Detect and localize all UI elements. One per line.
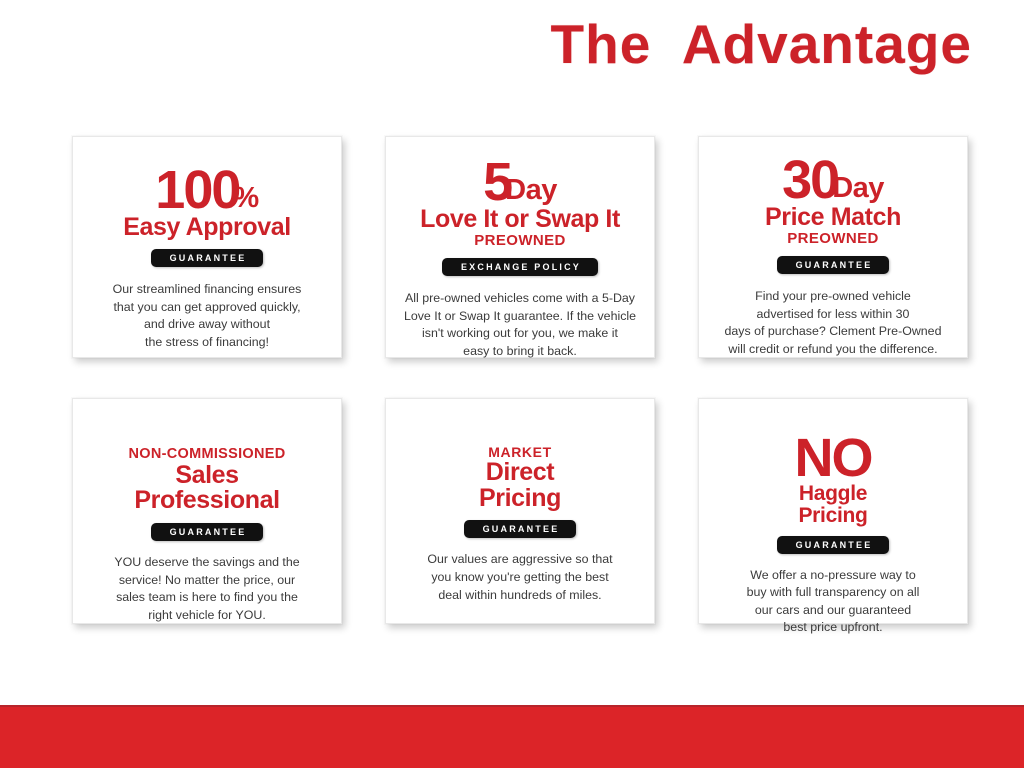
exchange-policy-badge: EXCHANGE POLICY [442,258,598,276]
headline-primary-2: Pricing [798,505,867,527]
page-title: The Advantage [551,16,972,74]
card-headline: 30 Day Price Match PREOWNED [765,157,901,247]
card-market-direct-pricing[interactable]: MARKET Direct Pricing GUARANTEE Our valu… [385,398,655,624]
card-body-text: YOU deserve the savings and the service!… [114,554,299,624]
guarantee-badge: GUARANTEE [151,523,264,541]
card-headline: NON-COMMISSIONED Sales Professional [128,447,285,514]
hero-big-text: 100 [155,167,239,215]
headline-secondary: PREOWNED [787,230,879,247]
advantage-card-grid: 100 % Easy Approval GUARANTEE Our stream… [72,136,970,624]
card-price-match[interactable]: 30 Day Price Match PREOWNED GUARANTEE Fi… [698,136,968,358]
hero-row: NO [795,435,872,483]
card-body-text: Our streamlined financing ensures that y… [113,281,302,351]
headline-primary: Sales [175,463,238,489]
card-love-it-or-swap-it[interactable]: 5 Day Love It or Swap It PREOWNED EXCHAN… [385,136,655,358]
guarantee-badge: GUARANTEE [777,256,890,274]
card-body-text: We offer a no-pressure way to buy with f… [747,567,920,637]
footer-red-band [0,705,1024,768]
card-headline: NO Haggle Pricing [795,435,872,527]
guarantee-badge: GUARANTEE [777,536,890,554]
hero-row: 30 Day [782,157,884,205]
hero-big-text: NO [795,435,872,483]
card-sales-professional[interactable]: NON-COMMISSIONED Sales Professional GUAR… [72,398,342,624]
card-body-text: Find your pre-owned vehicle advertised f… [725,288,942,358]
guarantee-badge: GUARANTEE [464,520,577,538]
card-body-text: Our values are aggressive so that you kn… [427,551,612,604]
headline-primary: Direct [486,460,554,486]
hero-row: 5 Day [483,159,557,207]
card-headline: 100 % Easy Approval [123,167,291,240]
hero-row: 100 % [155,167,258,215]
card-no-haggle-pricing[interactable]: NO Haggle Pricing GUARANTEE We offer a n… [698,398,968,624]
card-body-text: All pre-owned vehicles come with a 5-Day… [404,290,636,360]
headline-primary: Haggle [799,483,867,505]
hero-big-text: 30 [782,157,838,205]
advantage-page: The Advantage 100 % Easy Approval GUARAN… [0,0,1024,768]
card-headline: 5 Day Love It or Swap It PREOWNED [420,159,620,249]
card-headline: MARKET Direct Pricing [479,445,561,511]
headline-primary-2: Professional [134,488,279,514]
headline-primary: Easy Approval [123,215,291,241]
hero-small-text: Day [505,176,557,205]
headline-primary: Price Match [765,205,901,231]
card-easy-approval[interactable]: 100 % Easy Approval GUARANTEE Our stream… [72,136,342,358]
headline-secondary: PREOWNED [474,232,566,249]
headline-primary-2: Pricing [479,486,561,512]
headline-primary: Love It or Swap It [420,207,620,233]
hero-small-text: Day [832,174,884,203]
guarantee-badge: GUARANTEE [151,249,264,267]
hero-small-text: % [233,184,258,213]
